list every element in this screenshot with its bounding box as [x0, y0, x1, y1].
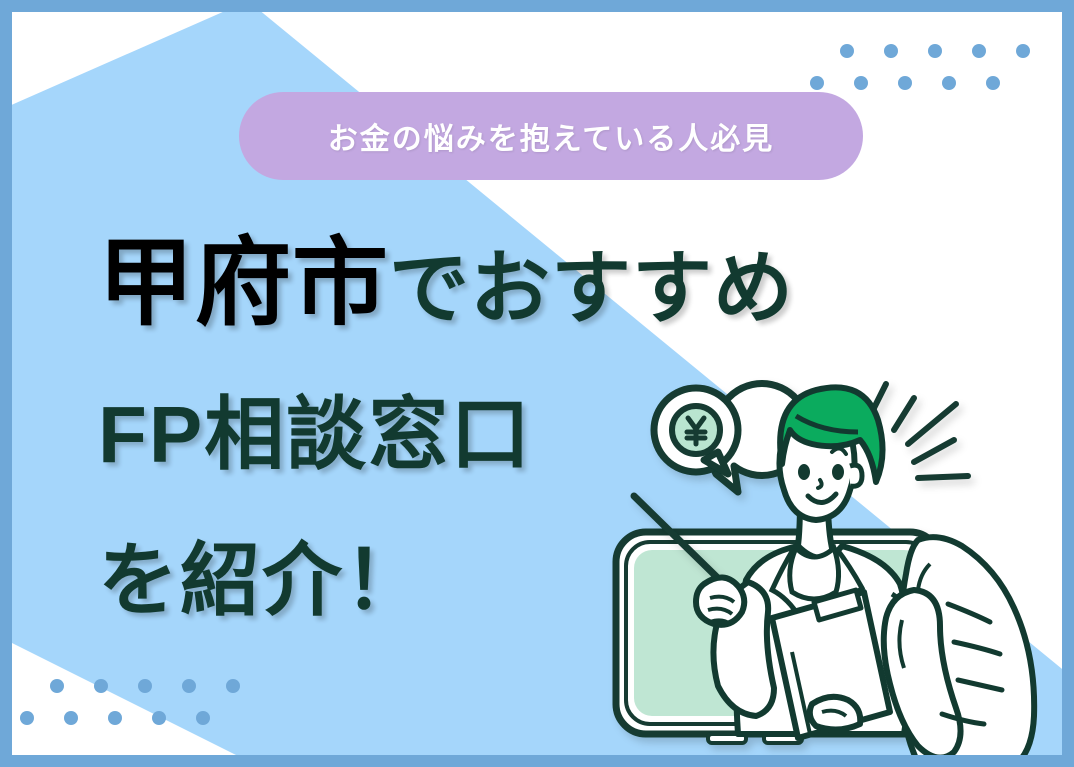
headline-line-3-label: を紹介！ — [98, 516, 426, 632]
dot — [182, 679, 196, 693]
dot-row — [50, 679, 240, 693]
dot — [928, 44, 942, 58]
dot — [108, 711, 122, 725]
dot-row — [20, 711, 240, 725]
dot — [972, 44, 986, 58]
dot — [840, 44, 854, 58]
banner-root: お金の悩みを抱えている人必見 甲府市 でおすすめ FP相談窓口 を紹介！ — [0, 0, 1074, 767]
eye-left — [798, 464, 810, 480]
dot — [226, 679, 240, 693]
dot — [854, 76, 868, 90]
dot-row — [810, 76, 1030, 90]
hand-holding-phone — [884, 537, 1034, 767]
eye-right — [832, 464, 844, 480]
dot — [898, 76, 912, 90]
headline-line-1: 甲府市 でおすすめ — [98, 205, 794, 344]
dot — [138, 679, 152, 693]
dot — [810, 76, 824, 90]
dot — [94, 679, 108, 693]
dot — [942, 76, 956, 90]
headline-line-2-label: FP相談窓口 — [98, 370, 532, 486]
dot-grid-top-right — [840, 44, 1030, 90]
dot — [986, 76, 1000, 90]
dot — [20, 711, 34, 725]
dot — [152, 711, 166, 725]
dot-row — [840, 44, 1030, 58]
dot — [884, 44, 898, 58]
dot — [1016, 44, 1030, 58]
headline-city-name: 甲府市 — [98, 205, 389, 344]
headline-line-1-suffix: でおすすめ — [389, 224, 794, 340]
headline-badge-label: お金の悩みを抱えている人必見 — [328, 114, 775, 158]
dot — [196, 711, 210, 725]
fp-advisor-illustration — [596, 368, 1066, 763]
dot-grid-bottom-left — [50, 679, 240, 725]
dot — [64, 711, 78, 725]
dot — [50, 679, 64, 693]
headline-badge: お金の悩みを抱えている人必見 — [239, 92, 863, 180]
